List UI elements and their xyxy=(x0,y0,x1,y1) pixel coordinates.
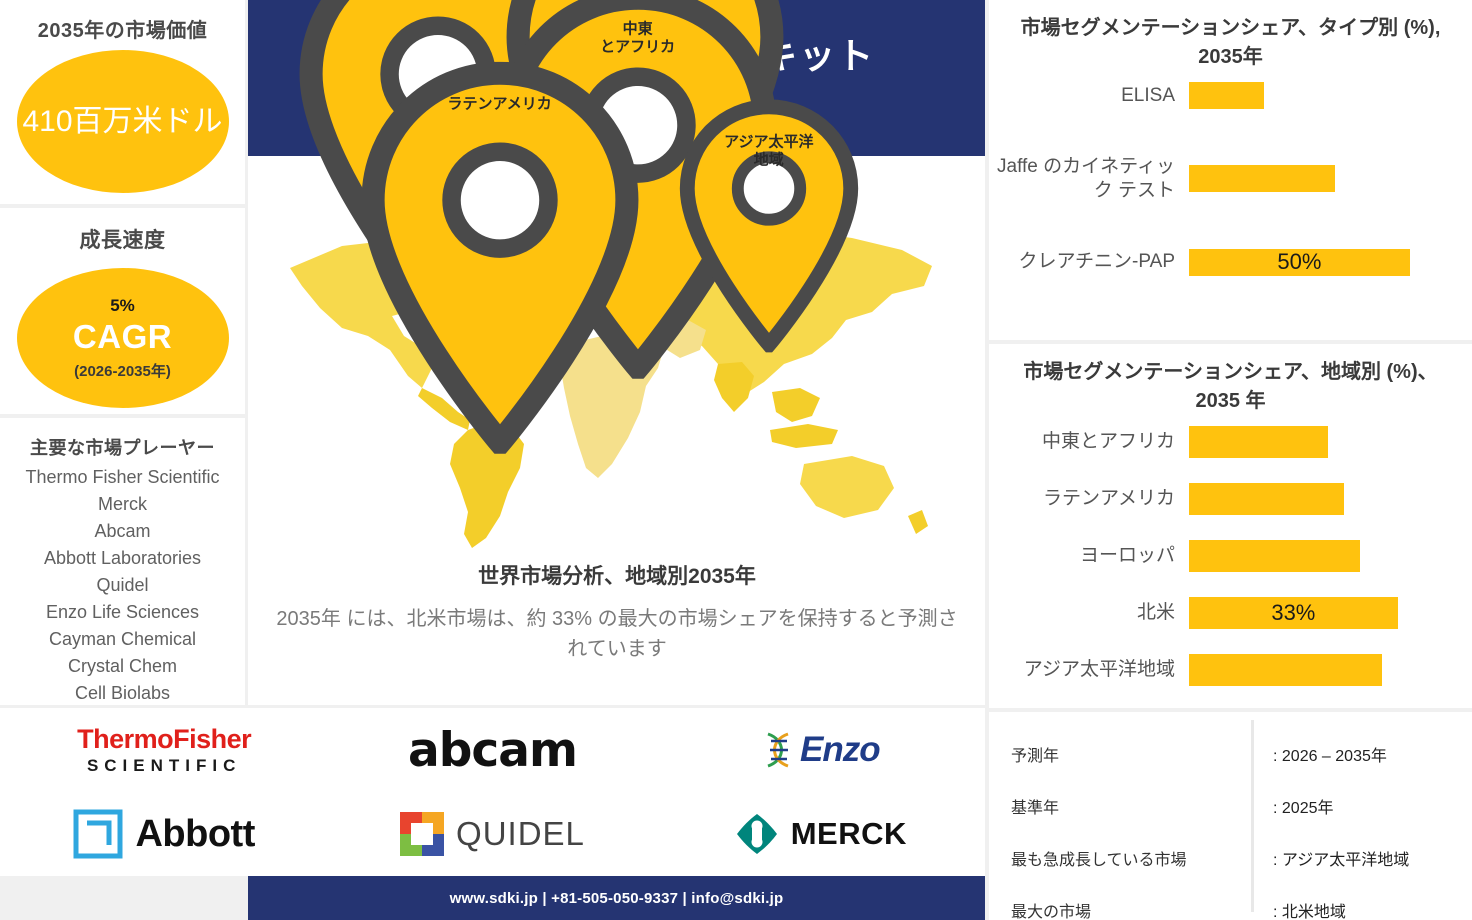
logo-abcam: abcam xyxy=(408,723,577,778)
key-players-list: Thermo Fisher ScientificMerckAbcamAbbott… xyxy=(0,464,245,707)
sidebar: 2035年の市場価値 410百万米ドル 成長速度 5% CAGR (2026-2… xyxy=(0,0,245,705)
chart-bar-row: アジア太平洋地域 xyxy=(989,654,1472,686)
chart-bar xyxy=(1189,165,1335,192)
table-row: 基準年: 2025年 xyxy=(989,780,1472,832)
chart-bar-track xyxy=(1189,540,1472,572)
map-pin-asia-pacific[interactable]: アジア太平洋地域 xyxy=(672,99,865,352)
key-player-item: Crystal Chem xyxy=(0,653,245,680)
logo-enzo: Enzo xyxy=(762,730,880,770)
map-pin-label: 中東とアフリカ xyxy=(600,21,675,57)
growth-rate-title: 成長速度 xyxy=(0,224,245,254)
region-southeast-asia xyxy=(772,388,820,422)
key-player-item: Abbott Laboratories xyxy=(0,545,245,572)
cagr-percent: 5% xyxy=(110,296,135,316)
region-indonesia xyxy=(770,424,838,448)
chart-region-title: 市場セグメンテーションシェア、地域別 (%)、2035 年 xyxy=(989,344,1472,416)
chart-bar xyxy=(1189,426,1328,458)
logo-quidel: QUIDEL xyxy=(400,812,585,856)
abbott-mark-icon xyxy=(73,809,123,859)
table-row: 予測年: 2026 – 2035年 xyxy=(989,728,1472,780)
chart-type-title: 市場セグメンテーションシェア、タイプ別 (%), 2035年 xyxy=(989,0,1472,72)
chart-bar-row: 中東とアフリカ xyxy=(989,426,1472,458)
chart-bar-label: ELISA xyxy=(989,84,1189,108)
chart-region-bars: 中東とアフリカラテンアメリカヨーロッパ北米33%アジア太平洋地域 xyxy=(989,426,1472,686)
key-player-item: Thermo Fisher Scientific xyxy=(0,464,245,491)
world-map: 北米 ヨーロッパ 中東とアフリカ xyxy=(272,216,962,556)
map-pin-label: アジア太平洋地域 xyxy=(724,133,813,169)
chart-bar xyxy=(1189,540,1360,572)
table-row-key: 予測年 xyxy=(989,742,1251,766)
chart-bar-label: ヨーロッパ xyxy=(989,544,1189,568)
key-player-item: Abcam xyxy=(0,518,245,545)
chart-bar-label: 北米 xyxy=(989,601,1189,625)
chart-bar-track: 50% xyxy=(1189,249,1472,276)
table-row-key: 基準年 xyxy=(989,794,1251,818)
key-players-title: 主要な市場プレーヤー xyxy=(0,434,245,460)
chart-type-bars: ELISAJaffe のカイネティック テストクレアチニン-PAP50% xyxy=(989,82,1472,276)
chart-bar: 50% xyxy=(1189,249,1410,276)
table-row-key: 最も急成長している市場 xyxy=(989,846,1251,870)
segmentation-by-type-chart: 市場セグメンテーションシェア、タイプ別 (%), 2035年 ELISAJaff… xyxy=(989,0,1472,340)
footer-contact-text: www.sdki.jp | +81-505-050-9337 | info@sd… xyxy=(450,890,784,907)
chart-bar-label: Jaffe のカイネティック テスト xyxy=(989,155,1189,203)
cagr-label: CAGR xyxy=(73,318,172,356)
market-value-title: 2035年の市場価値 xyxy=(0,14,245,43)
chart-bar-track xyxy=(1189,165,1472,192)
table-body: 予測年: 2026 – 2035年基準年: 2025年最も急成長している市場: … xyxy=(989,728,1472,920)
table-row-value: : 2025年 xyxy=(1251,794,1334,818)
chart-bar-value: 33% xyxy=(1271,600,1315,626)
market-value-bubble: 410百万米ドル xyxy=(17,50,229,193)
chart-bar-row: ELISA xyxy=(989,82,1472,109)
chart-bar-track xyxy=(1189,426,1472,458)
logo-abcam-text: abcam xyxy=(408,723,577,778)
chart-bar-label: 中東とアフリカ xyxy=(989,430,1189,454)
chart-bar-value: 50% xyxy=(1277,249,1321,275)
key-facts-table: 予測年: 2026 – 2035年基準年: 2025年最も急成長している市場: … xyxy=(989,712,1472,920)
map-caption-title: 世界市場分析、地域別2035年 xyxy=(272,560,962,590)
growth-rate-panel: 成長速度 5% CAGR (2026-2035年) xyxy=(0,208,245,414)
contact-footer: www.sdki.jp | +81-505-050-9337 | info@sd… xyxy=(248,876,985,920)
table-row-key: 最大の市場 xyxy=(989,898,1251,920)
infographic-page: 2035年の市場価値 410百万米ドル 成長速度 5% CAGR (2026-2… xyxy=(0,0,1472,920)
table-row: 最も急成長している市場: アジア太平洋地域 xyxy=(989,832,1472,884)
market-value-panel: 2035年の市場価値 410百万米ドル xyxy=(0,0,245,204)
table-row-value: : 北米地域 xyxy=(1251,898,1346,920)
cagr-period: (2026-2035年) xyxy=(74,360,171,381)
chart-bar xyxy=(1189,654,1382,686)
chart-bar-track xyxy=(1189,483,1472,515)
market-value-amount: 410百万米ドル xyxy=(22,103,222,141)
company-logos: ThermoFisher SCIENTIFIC abcam Enzo xyxy=(0,708,985,876)
table-column-divider xyxy=(1251,720,1254,912)
quidel-mark-icon xyxy=(400,812,444,856)
map-pin-label: ラテンアメリカ xyxy=(448,96,552,114)
logo-merck: MERCK xyxy=(735,812,907,856)
region-new-zealand xyxy=(908,510,928,534)
chart-bar-label: ラテンアメリカ xyxy=(989,487,1189,511)
world-map-panel: 北米 ヨーロッパ 中東とアフリカ xyxy=(248,156,985,705)
chart-bar-track xyxy=(1189,654,1472,686)
logo-enzo-text: Enzo xyxy=(800,730,880,770)
logo-thermo-fisher-line1: ThermoFisher xyxy=(77,726,251,753)
chart-bar-label: アジア太平洋地域 xyxy=(989,658,1189,682)
key-players-panel: 主要な市場プレーヤー Thermo Fisher ScientificMerck… xyxy=(0,418,245,705)
table-row-value: : アジア太平洋地域 xyxy=(1251,846,1409,870)
chart-bar-track xyxy=(1189,82,1472,109)
enzo-helix-icon xyxy=(762,730,796,770)
key-player-item: Merck xyxy=(0,491,245,518)
key-player-item: Cell Biolabs xyxy=(0,680,245,707)
chart-bar xyxy=(1189,483,1344,515)
merck-mark-icon xyxy=(735,812,779,856)
map-caption: 世界市場分析、地域別2035年 2035年 には、北米市場は、約 33% の最大… xyxy=(272,560,962,664)
chart-bar-row: 北米33% xyxy=(989,597,1472,629)
logo-thermo-fisher-line2: SCIENTIFIC xyxy=(77,757,251,774)
logo-abbott-text: Abbott xyxy=(135,813,254,856)
logo-abbott: Abbott xyxy=(73,809,254,859)
growth-rate-bubble: 5% CAGR (2026-2035年) xyxy=(17,268,229,408)
chart-bar-row: ヨーロッパ xyxy=(989,540,1472,572)
map-pin-latin-america[interactable]: ラテンアメリカ xyxy=(350,62,650,454)
table-row-value: : 2026 – 2035年 xyxy=(1251,742,1387,766)
table-row: 最大の市場: 北米地域 xyxy=(989,884,1472,920)
chart-bar-row: クレアチニン-PAP50% xyxy=(989,249,1472,276)
key-player-item: Quidel xyxy=(0,572,245,599)
chart-bar-row: ラテンアメリカ xyxy=(989,483,1472,515)
location-pin-icon xyxy=(350,62,650,454)
chart-bar: 33% xyxy=(1189,597,1398,629)
key-player-item: Enzo Life Sciences xyxy=(0,599,245,626)
logo-thermo-fisher: ThermoFisher SCIENTIFIC xyxy=(77,726,251,774)
key-player-item: Cayman Chemical xyxy=(0,626,245,653)
map-caption-body: 2035年 には、北米市場は、約 33% の最大の市場シェアを保持すると予測され… xyxy=(272,604,962,664)
region-australia xyxy=(800,456,894,518)
chart-bar xyxy=(1189,82,1264,109)
logo-quidel-text: QUIDEL xyxy=(456,815,585,853)
chart-bar-label: クレアチニン-PAP xyxy=(989,250,1189,274)
chart-bar-track: 33% xyxy=(1189,597,1472,629)
segmentation-by-region-chart: 市場セグメンテーションシェア、地域別 (%)、2035 年 中東とアフリカラテン… xyxy=(989,344,1472,708)
chart-bar-row: Jaffe のカイネティック テスト xyxy=(989,155,1472,203)
logo-merck-text: MERCK xyxy=(791,816,907,852)
